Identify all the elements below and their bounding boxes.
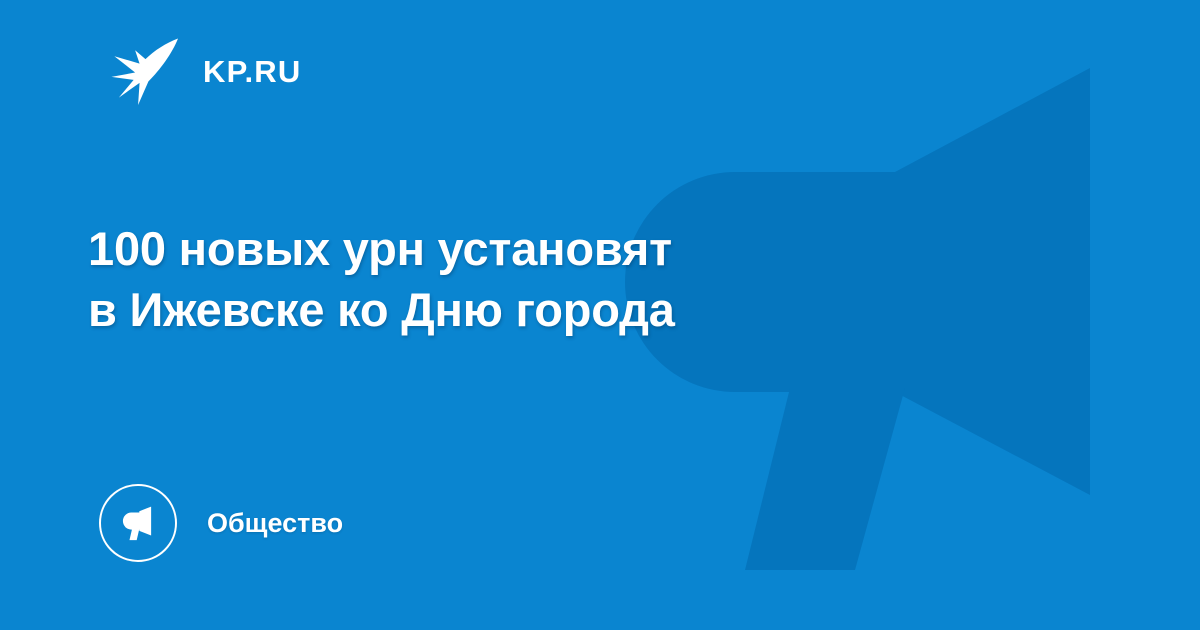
rubric[interactable]: Общество [99,481,343,565]
rubric-label: Общество [207,510,343,537]
page-title-line-1: 100 новых урн установят [88,218,888,279]
swallow-bird-icon [107,34,181,108]
megaphone-icon [117,502,159,544]
page-title: 100 новых урн установят в Ижевске ко Дню… [88,218,888,340]
share-card: KP.RU 100 новых урн установят в Ижевске … [0,0,1200,630]
rubric-badge [99,484,177,562]
brand-name: KP.RU [203,56,301,87]
brand-header: KP.RU [107,36,301,106]
page-title-line-2: в Ижевске ко Дню города [88,279,888,340]
